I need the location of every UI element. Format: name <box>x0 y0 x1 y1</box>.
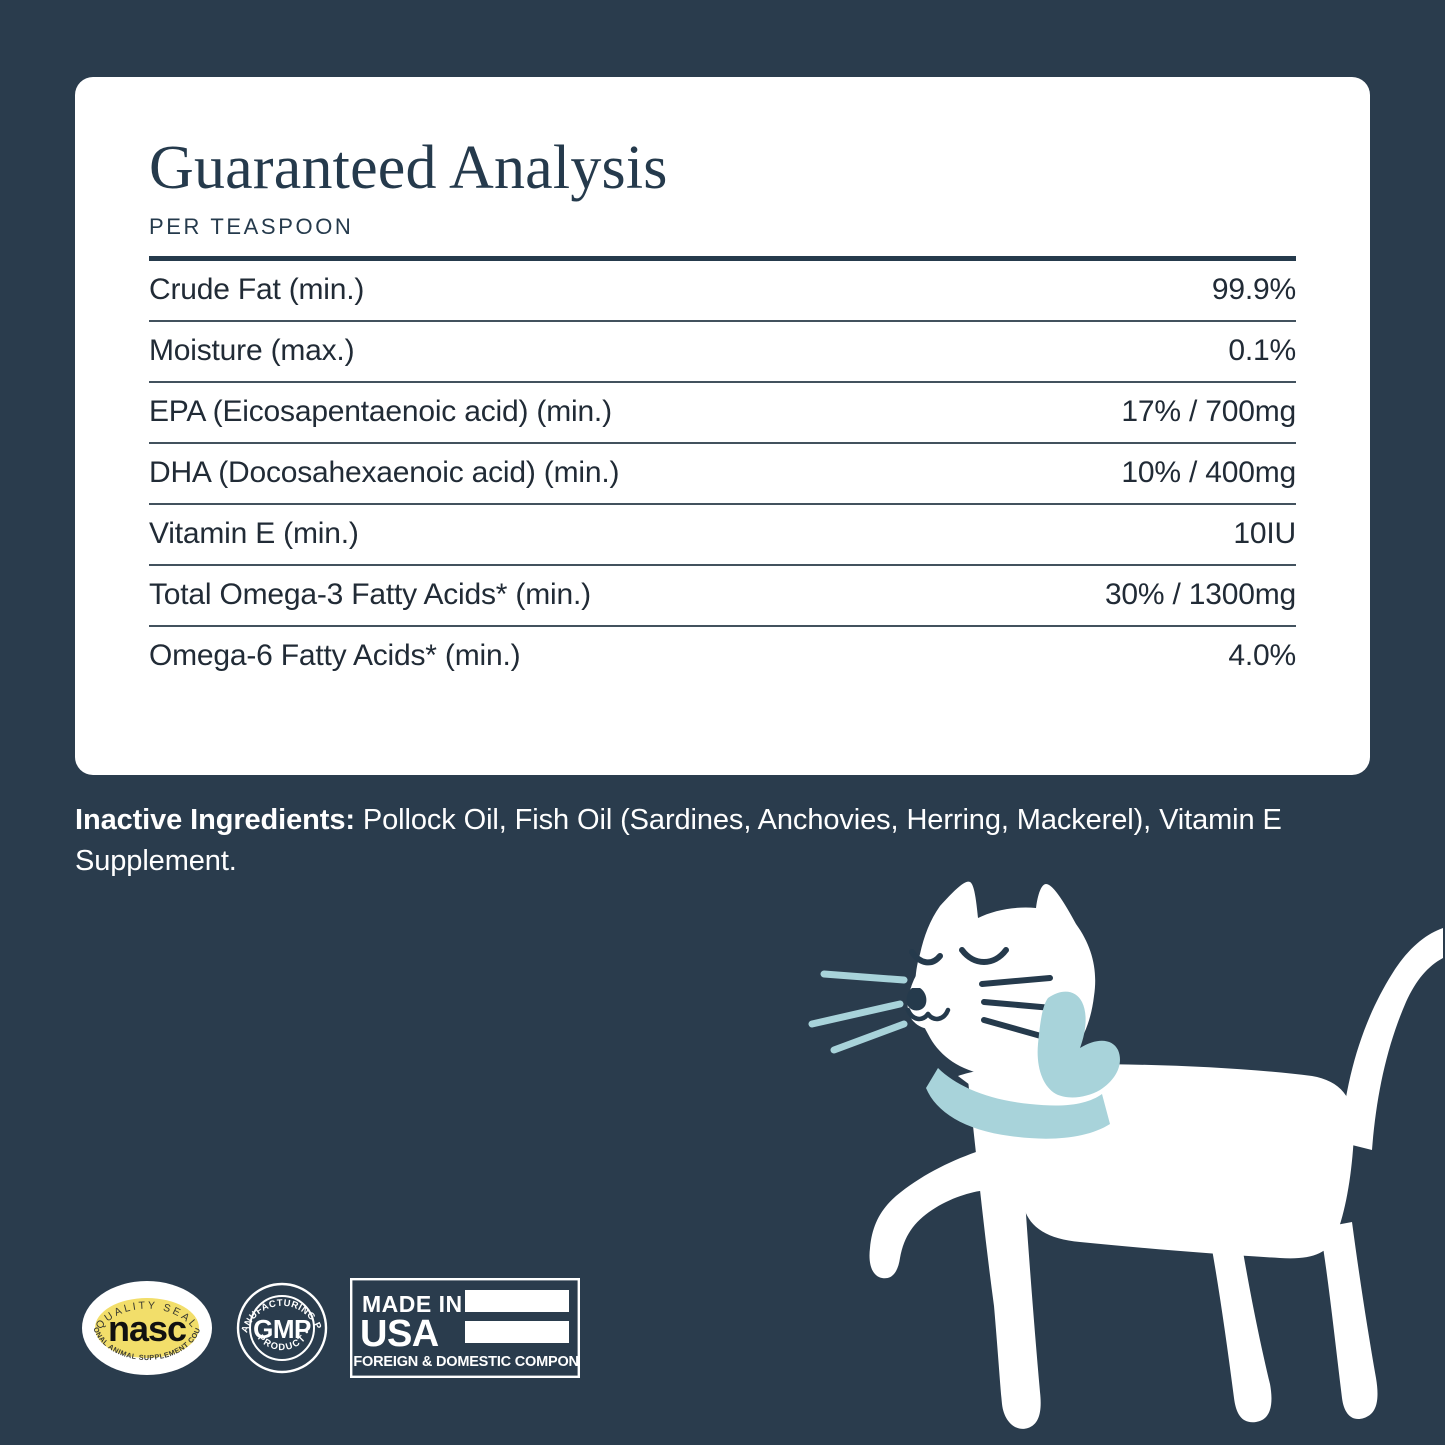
cat-whisker-right-3 <box>984 1020 1048 1038</box>
svg-text:USA: USA <box>360 1313 439 1355</box>
cat-scarf <box>926 1068 1110 1139</box>
product-label-panel: Guaranteed Analysis PER TEASPOON Crude F… <box>0 0 1445 1445</box>
cat-illustration-svg <box>780 862 1445 1445</box>
cat-head <box>915 882 1095 1078</box>
svg-text:nasc: nasc <box>108 1308 186 1349</box>
cat-whisker-left-2 <box>812 1004 900 1024</box>
cat-scarf-bow <box>1038 992 1120 1098</box>
nutrient-name: Total Omega-3 Fatty Acids* (min.) <box>149 565 723 626</box>
table-row: Omega-6 Fatty Acids* (min.)4.0% <box>149 626 1296 686</box>
cat-whisker-left-3 <box>834 1024 904 1050</box>
cat-whisker-left-1 <box>824 974 904 980</box>
svg-text:WITH FOREIGN & DOMESTIC COMPON: WITH FOREIGN & DOMESTIC COMPONENTS <box>350 1354 580 1370</box>
cat-mouth-left <box>908 1010 928 1019</box>
cat-muzzle <box>908 962 957 1029</box>
certification-badges: QUALITY SEAL NATIONAL ANIMAL SUPPLEMENT … <box>80 1272 580 1384</box>
cat-tail <box>1340 928 1443 1150</box>
nutrient-value: 0.1% <box>723 321 1297 382</box>
cat-mouth-right <box>928 1010 948 1019</box>
nutrient-name: EPA (Eicosapentaenoic acid) (min.) <box>149 382 723 443</box>
nasc-quality-seal-icon: QUALITY SEAL NATIONAL ANIMAL SUPPLEMENT … <box>80 1278 214 1378</box>
cat-whisker-right-2 <box>984 1002 1052 1008</box>
cat-illustration <box>780 862 1445 1445</box>
cat-eye-right <box>962 950 1006 962</box>
cat-eye-left <box>912 952 940 962</box>
table-row: Crude Fat (min.)99.9% <box>149 261 1296 321</box>
table-row: DHA (Docosahexaenoic acid) (min.)10% / 4… <box>149 443 1296 504</box>
page-title: Guaranteed Analysis <box>149 135 1296 202</box>
table-row: Vitamin E (min.)10IU <box>149 504 1296 565</box>
nutrient-value: 30% / 1300mg <box>723 565 1297 626</box>
cat-body <box>958 1064 1354 1258</box>
svg-text:GMP: GMP <box>253 1314 311 1344</box>
made-in-usa-badge-icon: MADE IN USA WITH FOREIGN & DOMESTIC COMP… <box>350 1278 580 1378</box>
cat-hind-leg-far <box>1320 1222 1378 1419</box>
nutrient-name: Omega-6 Fatty Acids* (min.) <box>149 626 723 686</box>
gmp-certification-icon: GOOD MANUFACTURING PRACTICE • PRODUCT • … <box>234 1280 330 1376</box>
nutrient-name: Vitamin E (min.) <box>149 504 723 565</box>
cat-front-leg <box>968 1080 1041 1429</box>
nutrient-value: 99.9% <box>723 261 1297 321</box>
cat-hind-leg-near <box>1210 1234 1271 1422</box>
table-row: EPA (Eicosapentaenoic acid) (min.)17% / … <box>149 382 1296 443</box>
inactive-ingredients-label: Inactive Ingredients: <box>75 804 355 836</box>
guaranteed-analysis-card: Guaranteed Analysis PER TEASPOON Crude F… <box>75 77 1370 775</box>
nutrient-value: 4.0% <box>723 626 1297 686</box>
table-row: Moisture (max.)0.1% <box>149 321 1296 382</box>
nutrition-table: Crude Fat (min.)99.9%Moisture (max.)0.1%… <box>149 261 1296 686</box>
nutrient-name: DHA (Docosahexaenoic acid) (min.) <box>149 443 723 504</box>
serving-size-label: PER TEASPOON <box>149 214 1296 240</box>
table-row: Total Omega-3 Fatty Acids* (min.)30% / 1… <box>149 565 1296 626</box>
cat-whisker-right-1 <box>982 978 1050 984</box>
nutrient-name: Moisture (max.) <box>149 321 723 382</box>
cat-raised-paw <box>870 1152 987 1278</box>
nutrient-name: Crude Fat (min.) <box>149 261 723 321</box>
nutrient-value: 17% / 700mg <box>723 382 1297 443</box>
nutrient-value: 10IU <box>723 504 1297 565</box>
nutrient-value: 10% / 400mg <box>723 443 1297 504</box>
inactive-ingredients: Inactive Ingredients: Pollock Oil, Fish … <box>75 800 1365 882</box>
cat-nose <box>907 988 927 1011</box>
